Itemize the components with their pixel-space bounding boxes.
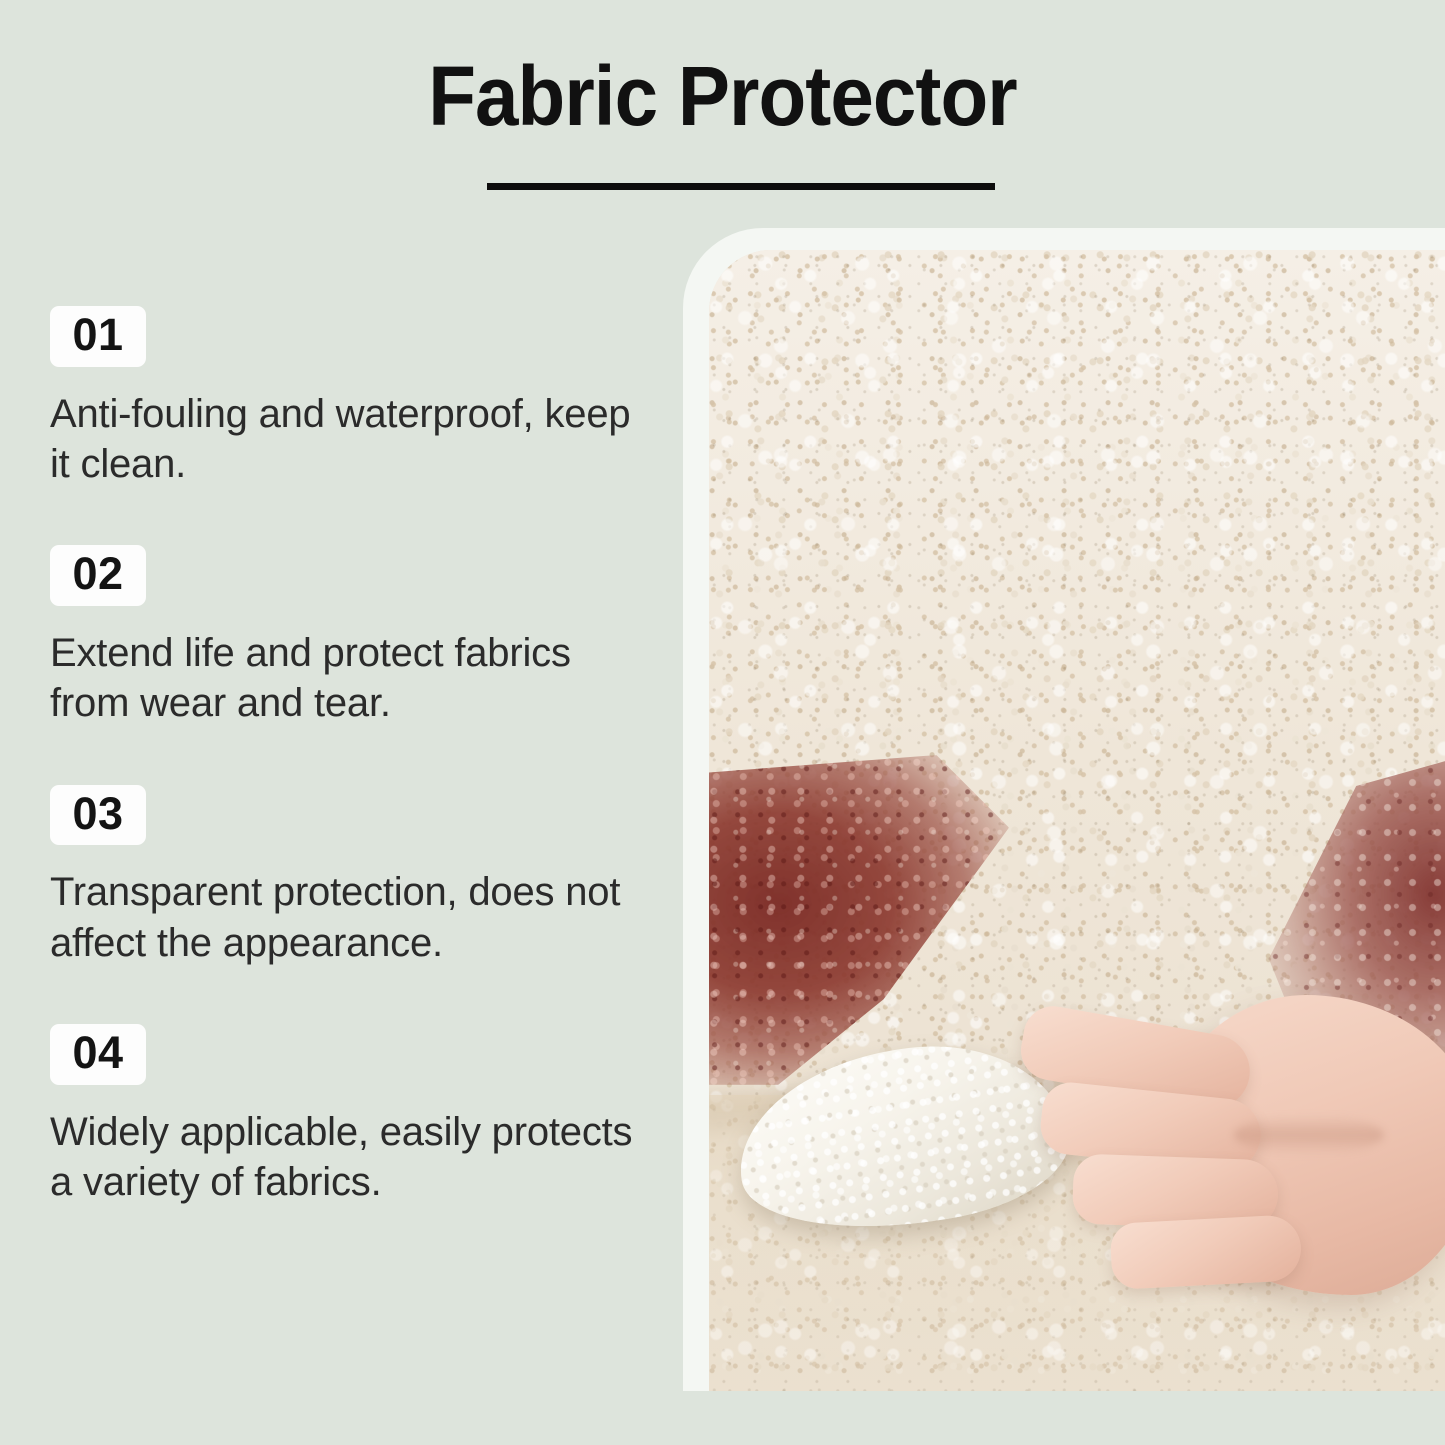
feature-badge-01: 01	[50, 306, 146, 367]
feature-list: 01 Anti-fouling and waterproof, keep it …	[50, 306, 670, 1208]
feature-text-01: Anti-fouling and waterproof, keep it cle…	[50, 389, 660, 490]
feature-item-04: 04 Widely applicable, easily protects a …	[50, 1024, 670, 1207]
infographic-canvas: Fabric Protector 01 Anti-fouling and wat…	[0, 0, 1445, 1445]
feature-text-03: Transparent protection, does not affect …	[50, 867, 660, 968]
finger-little	[1109, 1214, 1302, 1290]
feature-item-01: 01 Anti-fouling and waterproof, keep it …	[50, 306, 670, 489]
feature-item-02: 02 Extend life and protect fabrics from …	[50, 545, 670, 728]
title-underline-rule	[487, 183, 995, 190]
page-title: Fabric Protector	[51, 52, 1395, 140]
product-photo-frame	[683, 228, 1445, 1391]
product-photo	[709, 250, 1445, 1391]
feature-badge-04: 04	[50, 1024, 146, 1085]
feature-item-03: 03 Transparent protection, does not affe…	[50, 785, 670, 968]
feature-badge-02: 02	[50, 545, 146, 606]
knuckle-shadow	[1234, 1115, 1384, 1155]
feature-text-04: Widely applicable, easily protects a var…	[50, 1107, 660, 1208]
hand	[999, 995, 1445, 1325]
feature-text-02: Extend life and protect fabrics from wea…	[50, 628, 660, 729]
feature-badge-03: 03	[50, 785, 146, 846]
